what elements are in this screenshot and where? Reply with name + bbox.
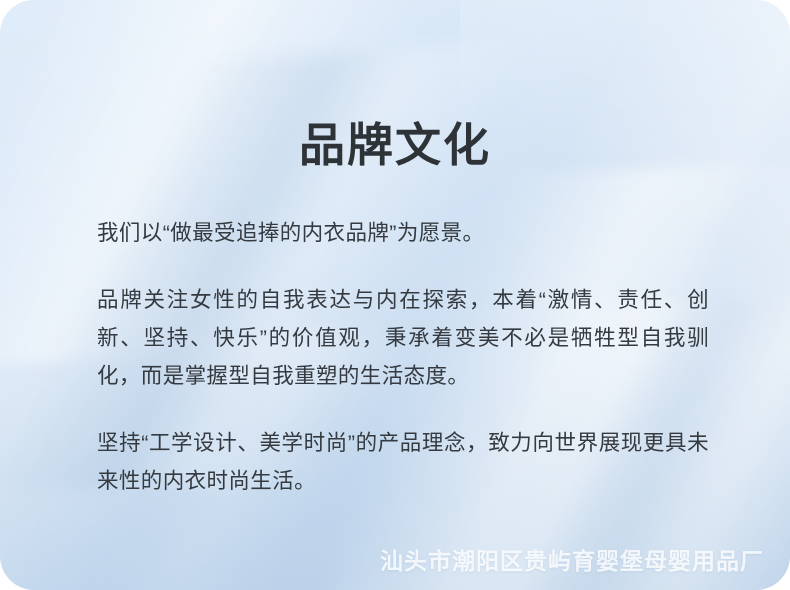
brand-culture-card: 品牌文化 我们以“做最受追捧的内衣品牌”为愿景。 品牌关注女性的自我表达与内在探… xyxy=(0,0,790,590)
paragraph-values: 品牌关注女性的自我表达与内在探索，本着“激情、责任、创新、坚持、快乐”的价值观，… xyxy=(97,281,709,395)
page-title: 品牌文化 xyxy=(0,119,790,172)
paragraph-philosophy: 坚持“工学设计、美学时尚”的产品理念，致力向世界展现更具未来性的内衣时尚生活。 xyxy=(97,424,709,500)
body-copy: 我们以“做最受追捧的内衣品牌”为愿景。 品牌关注女性的自我表达与内在探索，本着“… xyxy=(97,214,709,500)
paragraph-vision: 我们以“做最受追捧的内衣品牌”为愿景。 xyxy=(97,214,709,252)
card-content: 品牌文化 我们以“做最受追捧的内衣品牌”为愿景。 品牌关注女性的自我表达与内在探… xyxy=(0,0,790,590)
company-watermark: 汕头市潮阳区贵屿育婴堡母婴用品厂 xyxy=(380,542,764,576)
